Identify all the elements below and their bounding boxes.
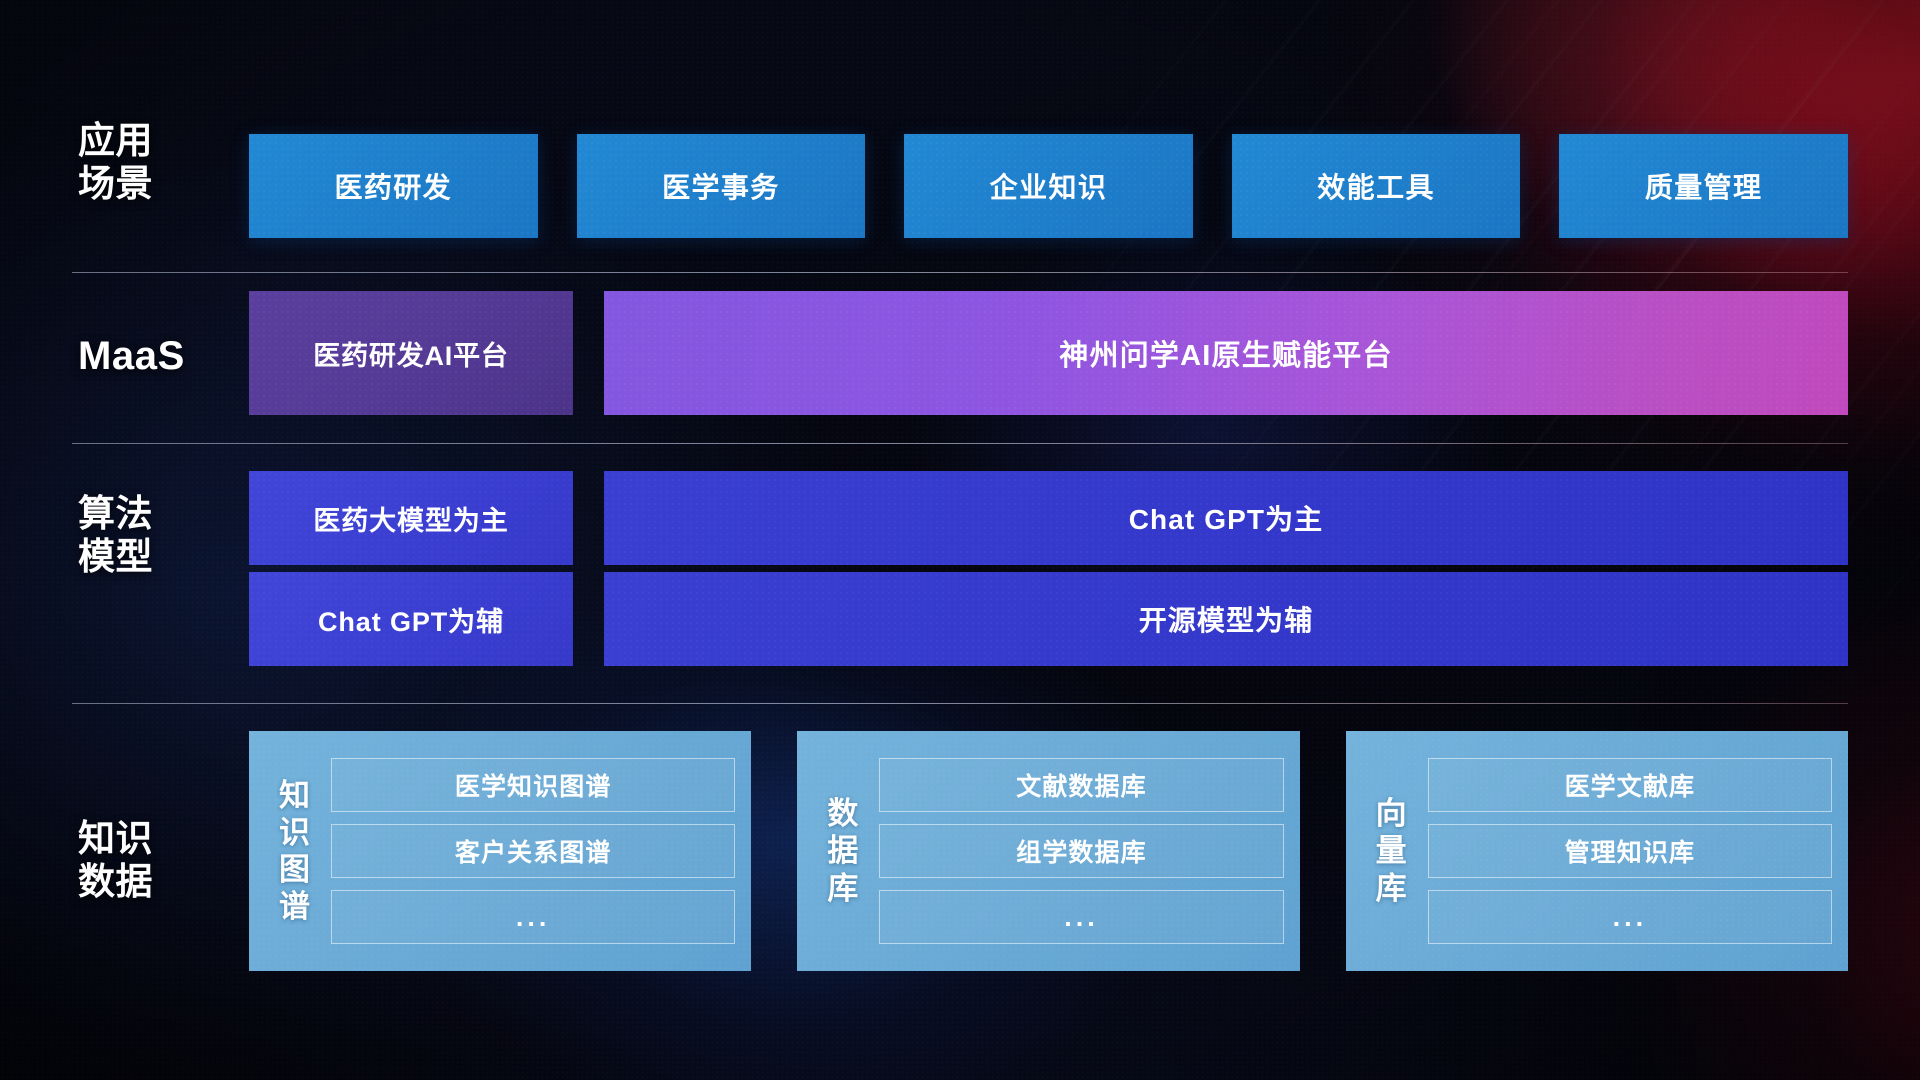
algo-card-label: Chat GPT为主	[1129, 498, 1324, 538]
knowledge-item-label: 组学数据库	[1016, 833, 1147, 869]
knowledge-panel-vector-store: 向量库 医学文献库 管理知识库 ...	[1346, 731, 1848, 971]
knowledge-panel-vertical-label: 知识图谱	[259, 744, 331, 958]
maas-row: 医药研发AI平台 神州问学AI原生赋能平台	[249, 291, 1848, 415]
app-card-medical-rd[interactable]: 医药研发	[249, 134, 538, 238]
knowledge-item-medical-literature-store[interactable]: 医学文献库	[1428, 758, 1832, 812]
app-card-medical-affairs[interactable]: 医学事务	[577, 134, 866, 238]
knowledge-item-label: 医学文献库	[1565, 767, 1696, 803]
algorithm-row-primary: 医药大模型为主 Chat GPT为主	[249, 471, 1848, 565]
slide-canvas: 应用 场景 医药研发 医学事务 企业知识 效能工具 质量管理 MaaS 医药研发…	[0, 0, 1920, 1080]
knowledge-panel-item-list: 医学知识图谱 客户关系图谱 ...	[331, 744, 737, 958]
tier-label-application-scenarios: 应用 场景	[78, 120, 213, 206]
app-card-label: 医学事务	[662, 166, 780, 206]
architecture-diagram: 应用 场景 医药研发 医学事务 企业知识 效能工具 质量管理 MaaS 医药研发…	[0, 0, 1920, 1080]
knowledge-panel-database: 数据库 文献数据库 组学数据库 ...	[797, 731, 1299, 971]
knowledge-panel-item-list: 文献数据库 组学数据库 ...	[879, 744, 1285, 958]
algo-card-chatgpt-secondary[interactable]: Chat GPT为辅	[249, 572, 573, 666]
knowledge-panel-knowledge-graph: 知识图谱 医学知识图谱 客户关系图谱 ...	[249, 731, 751, 971]
algorithm-row-secondary: Chat GPT为辅 开源模型为辅	[249, 572, 1848, 666]
maas-card-pharma-ai-platform[interactable]: 医药研发AI平台	[249, 291, 573, 415]
vertical-label-char: 向	[1376, 795, 1408, 832]
vertical-label-char: 识	[279, 814, 311, 851]
vertical-label-char: 数	[827, 795, 859, 832]
knowledge-data-panels: 知识图谱 医学知识图谱 客户关系图谱 ... 数据库	[249, 731, 1848, 971]
application-scenario-cards: 医药研发 医学事务 企业知识 效能工具 质量管理	[249, 134, 1848, 238]
knowledge-panel-item-list: 医学文献库 管理知识库 ...	[1428, 744, 1834, 958]
algo-card-pharma-llm-primary[interactable]: 医药大模型为主	[249, 471, 573, 565]
tier-label-maas: MaaS	[78, 333, 213, 379]
vertical-label-char: 量	[1376, 832, 1408, 869]
knowledge-item-label: ...	[1064, 902, 1099, 933]
algo-card-label: 开源模型为辅	[1139, 599, 1314, 639]
knowledge-item-label: 客户关系图谱	[455, 833, 612, 869]
knowledge-item-medical-knowledge-graph[interactable]: 医学知识图谱	[331, 758, 735, 812]
divider-after-algorithm-models	[72, 703, 1848, 704]
app-card-label: 企业知识	[990, 166, 1108, 206]
knowledge-item-label: ...	[516, 902, 551, 933]
app-card-efficiency-tools[interactable]: 效能工具	[1232, 134, 1521, 238]
app-card-label: 质量管理	[1645, 166, 1763, 206]
knowledge-item-label: ...	[1613, 902, 1648, 933]
tier-label-algorithm-models: 算法 模型	[78, 493, 213, 579]
vertical-label-char: 据	[827, 832, 859, 869]
vertical-label-char: 图	[279, 851, 311, 888]
maas-card-shenzhou-wenxue-platform[interactable]: 神州问学AI原生赋能平台	[604, 291, 1848, 415]
maas-card-label: 医药研发AI平台	[313, 334, 508, 373]
knowledge-item-more[interactable]: ...	[1428, 890, 1832, 944]
knowledge-item-label: 医学知识图谱	[455, 767, 612, 803]
knowledge-item-management-knowledge-store[interactable]: 管理知识库	[1428, 824, 1832, 878]
algo-card-chatgpt-primary[interactable]: Chat GPT为主	[604, 471, 1848, 565]
vertical-label-char: 谱	[279, 888, 311, 925]
knowledge-item-more[interactable]: ...	[879, 890, 1283, 944]
knowledge-panel-vertical-label: 向量库	[1356, 744, 1428, 958]
app-card-label: 效能工具	[1317, 166, 1435, 206]
knowledge-item-label: 管理知识库	[1565, 833, 1696, 869]
algo-card-opensource-secondary[interactable]: 开源模型为辅	[604, 572, 1848, 666]
knowledge-item-customer-relation-graph[interactable]: 客户关系图谱	[331, 824, 735, 878]
tier-label-knowledge-data: 知识 数据	[78, 818, 213, 904]
app-card-label: 医药研发	[334, 166, 452, 206]
algo-card-label: Chat GPT为辅	[318, 600, 504, 639]
knowledge-item-more[interactable]: ...	[331, 890, 735, 944]
knowledge-item-label: 文献数据库	[1016, 767, 1147, 803]
algo-card-label: 医药大模型为主	[313, 499, 508, 538]
vertical-label-char: 知	[279, 777, 311, 814]
maas-card-label: 神州问学AI原生赋能平台	[1059, 332, 1392, 374]
vertical-label-char: 库	[827, 870, 859, 907]
app-card-quality-management[interactable]: 质量管理	[1559, 134, 1848, 238]
divider-after-maas	[72, 443, 1848, 444]
app-card-enterprise-knowledge[interactable]: 企业知识	[904, 134, 1193, 238]
knowledge-panel-vertical-label: 数据库	[807, 744, 879, 958]
knowledge-item-literature-database[interactable]: 文献数据库	[879, 758, 1283, 812]
vertical-label-char: 库	[1376, 870, 1408, 907]
knowledge-item-omics-database[interactable]: 组学数据库	[879, 824, 1283, 878]
divider-after-application-scenarios	[72, 272, 1848, 273]
